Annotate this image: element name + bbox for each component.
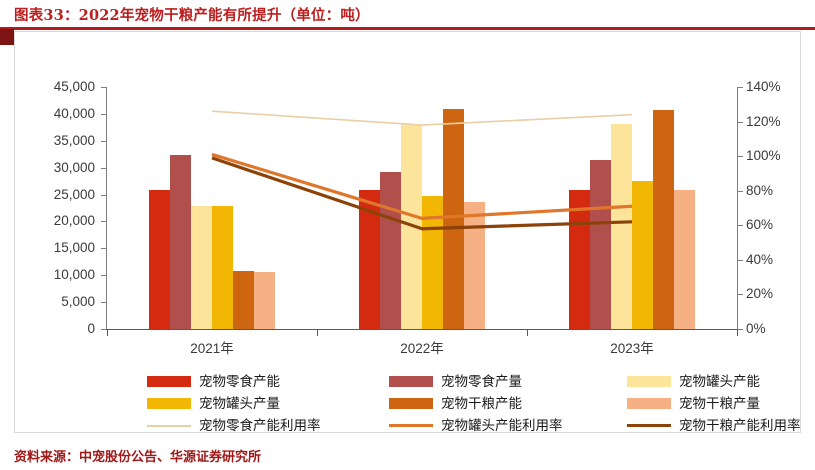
y-axis-left-tick-label: 30,000: [23, 161, 95, 175]
legend-can-rate-swatch: [389, 424, 433, 427]
chart-legend: 宠物零食产能宠物零食产量宠物罐头产能宠物罐头产量宠物干粮产能宠物干粮产量宠物零食…: [29, 372, 815, 434]
x-axis-tick-label: 2022年: [372, 337, 472, 357]
x-tick: [107, 330, 108, 336]
legend-can-output-swatch: [147, 398, 191, 409]
legend-snack-capacity-swatch: [147, 376, 191, 387]
y-tick-right: [738, 191, 743, 192]
y-axis-left-tick-label: 35,000: [23, 134, 95, 148]
y-axis-right-tick-label: 80%: [746, 184, 815, 198]
source-note: 资料来源：中宠股份公告、华源证券研究所: [14, 446, 261, 465]
y-tick-right: [738, 225, 743, 226]
line-series-layer: [107, 87, 737, 329]
legend-snack-rate-swatch: [147, 425, 191, 427]
y-axis-right-tick-label: 100%: [746, 149, 815, 163]
line-宠物零食产能利用率: [212, 111, 632, 125]
y-axis-left-tick-label: 10,000: [23, 268, 95, 282]
legend-dry-output-label: 宠物干粮产量: [679, 394, 760, 413]
y-tick-right: [738, 87, 743, 88]
y-axis-left-tick-label: 20,000: [23, 214, 95, 228]
chart-container: 05,00010,00015,00020,00025,00030,00035,0…: [14, 31, 801, 433]
legend-snack-output-label: 宠物零食产量: [441, 372, 522, 391]
legend-dry-output-swatch: [627, 398, 671, 409]
legend-snack-rate-label: 宠物零食产能利用率: [199, 416, 321, 435]
y-axis-left-tick-label: 25,000: [23, 188, 95, 202]
x-tick: [737, 330, 738, 336]
title-bar: 图表33：2022年宠物干粮产能有所提升（单位：吨）: [0, 0, 815, 30]
y-axis-left-tick-label: 0: [23, 322, 95, 336]
left-accent-tab: [0, 29, 14, 45]
y-tick-right: [738, 156, 743, 157]
legend-can-rate-label: 宠物罐头产能利用率: [441, 416, 563, 435]
y-tick-right: [738, 294, 743, 295]
legend-can-capacity-label: 宠物罐头产能: [679, 372, 760, 391]
legend-can-capacity-swatch: [627, 376, 671, 387]
legend-snack-output-swatch: [389, 376, 433, 387]
y-axis-right-tick-label: 140%: [746, 80, 815, 94]
y-axis-right-tick-label: 40%: [746, 253, 815, 267]
x-axis-tick-label: 2023年: [582, 337, 682, 357]
line-宠物罐头产能利用率: [212, 154, 632, 218]
y-axis-left-tick-label: 15,000: [23, 241, 95, 255]
legend-snack-capacity-label: 宠物零食产能: [199, 372, 280, 391]
y-axis-left-tick-label: 40,000: [23, 107, 95, 121]
x-tick: [527, 330, 528, 336]
y-tick-right: [738, 260, 743, 261]
legend-dry-capacity-label: 宠物干粮产能: [441, 394, 522, 413]
chart-page: 图表33：2022年宠物干粮产能有所提升（单位：吨） 05,00010,0001…: [0, 0, 815, 470]
legend-can-output-label: 宠物罐头产量: [199, 394, 280, 413]
x-tick: [317, 330, 318, 336]
y-axis-right-tick-label: 60%: [746, 218, 815, 232]
legend-dry-rate-label: 宠物干粮产能利用率: [679, 416, 801, 435]
y-tick-right: [738, 329, 743, 330]
y-axis-left-tick-label: 45,000: [23, 80, 95, 94]
y-axis-right-tick-label: 20%: [746, 287, 815, 301]
legend-dry-rate-swatch: [627, 424, 671, 427]
x-axis-tick-label: 2021年: [162, 337, 262, 357]
y-axis-left-tick-label: 5,000: [23, 295, 95, 309]
legend-dry-capacity-swatch: [389, 398, 433, 409]
y-axis-right-line: [737, 87, 738, 330]
title-divider: [0, 27, 815, 30]
y-tick-right: [738, 122, 743, 123]
y-axis-right-tick-label: 120%: [746, 115, 815, 129]
page-title: 图表33：2022年宠物干粮产能有所提升（单位：吨）: [14, 4, 370, 25]
x-axis-line: [106, 329, 738, 330]
y-axis-right-tick-label: 0%: [746, 322, 815, 336]
